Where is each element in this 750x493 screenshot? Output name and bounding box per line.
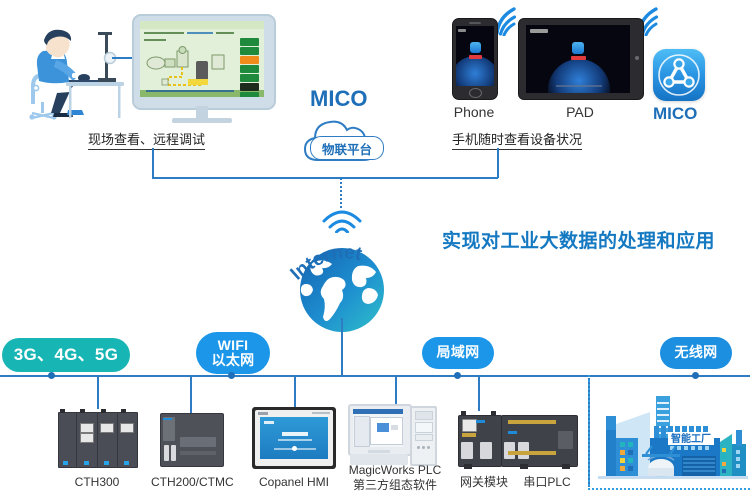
drop-line-gateway	[478, 375, 480, 411]
tablet-caption	[556, 85, 602, 87]
ethernet-port	[100, 423, 114, 433]
mount-tab	[491, 411, 496, 416]
scada-button[interactable]	[240, 92, 259, 97]
ethernet-port	[462, 419, 477, 432]
scada-screen	[140, 21, 264, 97]
drop-line-copanel	[294, 375, 296, 407]
scada-text	[144, 39, 166, 41]
device-copanel-hmi	[252, 407, 336, 469]
pc-diagram-block	[391, 425, 398, 430]
gateway-logo	[476, 420, 485, 423]
operator-svg	[10, 18, 130, 123]
drop-line-cth200	[190, 375, 192, 413]
rack-tab	[101, 409, 106, 413]
drop-line-cth300	[97, 375, 99, 409]
smartphone-device	[452, 18, 498, 100]
device-label-magicworks-line1: MagicWorks PLC	[340, 463, 450, 478]
pc-titlebar	[353, 409, 403, 414]
scada-top-bar	[140, 21, 264, 29]
tower-led	[417, 446, 420, 449]
serial-connector	[480, 442, 492, 459]
scada-button[interactable]	[240, 38, 259, 46]
top-bus-line	[152, 177, 498, 179]
hmi-subtitle	[278, 439, 312, 441]
status-led	[63, 461, 68, 465]
gateway-leds	[462, 433, 476, 437]
ethernet-port	[120, 423, 134, 433]
scada-text	[144, 32, 184, 34]
mico-app-icon	[470, 42, 481, 53]
ethernet-port	[80, 433, 94, 443]
operator-illustration	[10, 18, 130, 123]
device-label-serialplc: 串口PLC	[518, 475, 576, 490]
mount-foot	[520, 464, 528, 469]
plc-panel	[180, 437, 216, 447]
plc-terminal-row	[508, 420, 556, 424]
hmi-progress-knob	[292, 446, 297, 451]
tower-panel	[415, 422, 433, 433]
mount-tab	[461, 411, 466, 416]
rack-tab	[60, 409, 65, 413]
drop-line-magicworks	[395, 375, 397, 407]
mico-network-icon	[653, 49, 705, 101]
pill-label: 无线网	[675, 345, 718, 360]
earth-graphic	[548, 59, 610, 93]
serial-connector	[461, 442, 473, 459]
factory-sign-text: 智能工厂	[671, 432, 711, 445]
hmi-screen[interactable]	[260, 417, 328, 459]
pill-mobile-network[interactable]: 3G、4G、5G	[2, 338, 130, 372]
device-label-copanel: Copanel HMI	[252, 475, 336, 490]
device-cth300	[58, 409, 136, 469]
tower-led	[427, 446, 430, 449]
bus-node-wifi	[228, 372, 235, 379]
hmi-logo	[264, 421, 274, 424]
device-label-gateway: 网关模块	[456, 475, 512, 490]
status-led	[84, 461, 89, 465]
device-cth200	[160, 413, 222, 469]
device-label-magicworks-line2: 第三方组态软件	[340, 478, 450, 493]
device-label-magicworks: MagicWorks PLC 第三方组态软件	[340, 463, 450, 493]
rack-tab	[121, 409, 126, 413]
device-label-cth300: CTH300	[57, 475, 137, 490]
pc-monitor	[348, 404, 412, 456]
mico-app-tile[interactable]	[653, 49, 705, 101]
hmi-brand	[258, 412, 268, 415]
bus-node-mobile	[48, 372, 55, 379]
cloud-to-internet-line	[340, 178, 342, 208]
factory-icon: 智能工厂	[598, 390, 748, 488]
hmi-title	[282, 432, 308, 436]
plc-connector	[171, 445, 176, 461]
iot-platform-label: 物联平台	[322, 139, 372, 158]
scada-button[interactable]	[240, 47, 259, 55]
tablet-home-button[interactable]	[635, 56, 639, 60]
tablet-device	[518, 18, 644, 100]
smart-factory-illustration: 智能工厂	[598, 390, 748, 488]
device-magicworks-pc	[348, 404, 434, 470]
scada-text	[187, 32, 213, 34]
mico-brand-title: MICO	[310, 86, 367, 112]
mico-app-badge	[469, 55, 482, 59]
plc-logo	[508, 431, 517, 434]
status-led	[124, 461, 129, 465]
scada-mimic-icon	[144, 45, 236, 89]
rack-module	[58, 412, 77, 468]
caption-left: 现场查看、远程调试	[88, 129, 205, 150]
earth-graphic	[456, 56, 494, 86]
plc-expansion	[558, 431, 573, 449]
pill-label: 3G、4G、5G	[14, 346, 118, 364]
pill-label-line1: WIFI	[218, 338, 249, 353]
pill-label-line2: 以太网	[212, 353, 255, 368]
bus-node-lan	[454, 372, 461, 379]
headline-text: 实现对工业大数据的处理和应用	[442, 226, 715, 253]
monitor-neck	[196, 106, 208, 118]
scada-button[interactable]	[240, 83, 259, 91]
phone-speaker	[469, 22, 481, 24]
device-label-cth200: CTH200/CTMC	[151, 475, 231, 490]
plc-terminal-block	[163, 417, 175, 441]
scada-button[interactable]	[240, 65, 259, 73]
pc-tower	[410, 406, 437, 466]
mico-app-badge	[571, 56, 586, 60]
scada-button[interactable]	[240, 56, 259, 64]
tower-led	[422, 446, 425, 449]
pill-label: 局域网	[437, 345, 480, 360]
ethernet-port	[80, 423, 94, 433]
mico-app-icon	[572, 42, 584, 54]
status-bar-logo	[530, 29, 548, 33]
iot-platform-badge: 物联平台	[310, 136, 384, 160]
right-branch-line	[497, 148, 499, 178]
smartphone-screen	[456, 26, 494, 86]
plc-terminal-row	[508, 451, 556, 455]
plc-connector	[164, 445, 169, 461]
status-led	[104, 461, 109, 465]
mount-foot	[464, 464, 472, 469]
caption-right: 手机随时查看设备状况	[452, 129, 582, 150]
tower-slot	[415, 434, 433, 441]
globe-to-bus-line	[341, 318, 343, 376]
pill-lan[interactable]: 局域网	[422, 337, 494, 369]
mico-app-label: MICO	[653, 104, 697, 124]
scada-text	[216, 32, 234, 34]
scada-text	[146, 90, 234, 92]
rack-module	[97, 412, 118, 468]
pc-tree-panel	[354, 416, 370, 447]
pill-wifi-ethernet[interactable]: WIFI 以太网	[196, 332, 270, 374]
rack-module	[117, 412, 138, 468]
diagram-canvas: 现场查看、远程调试 MICO 物联平台 Phone	[0, 0, 750, 492]
hmi-model	[312, 412, 330, 414]
tablet-screen	[526, 25, 630, 93]
rack-tab	[80, 409, 85, 413]
scada-button[interactable]	[240, 74, 259, 82]
pc-diagram-block	[377, 423, 389, 432]
iot-cloud: 物联平台	[300, 112, 396, 164]
left-branch-line	[152, 148, 154, 178]
pc-screen[interactable]	[353, 409, 403, 447]
monitor-base	[172, 118, 232, 123]
tower-drive	[415, 411, 433, 420]
plc-strip	[180, 451, 216, 455]
device-gateway-serialplc	[458, 411, 576, 469]
status-bar-logo	[458, 29, 466, 32]
home-button[interactable]	[469, 88, 482, 98]
tablet-label: PAD	[548, 104, 612, 122]
mount-foot	[562, 464, 570, 469]
smartphone-label: Phone	[442, 104, 506, 122]
pc-monitor-stand	[368, 450, 390, 453]
pill-wireless[interactable]: 无线网	[660, 337, 732, 369]
plc-logo	[163, 418, 172, 420]
